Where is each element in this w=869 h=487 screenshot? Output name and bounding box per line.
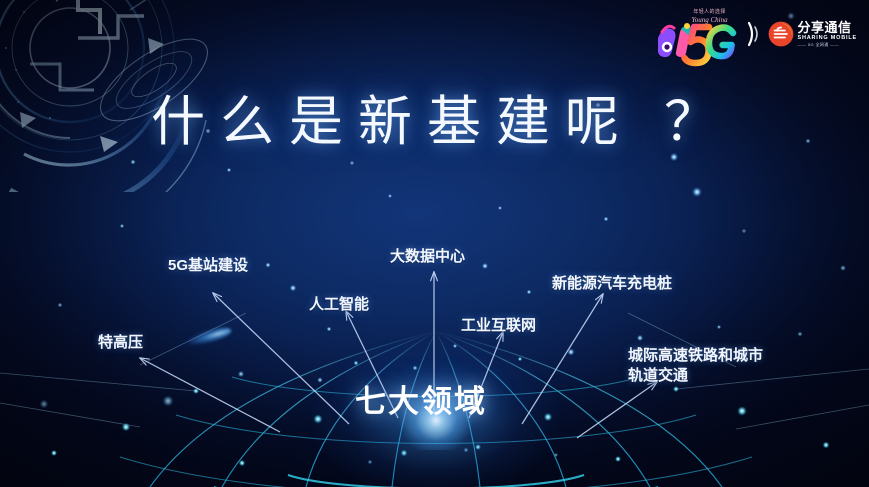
page-title: 什么是新基建呢 ？ [0, 95, 869, 149]
sharing-mobile-sub: —— 5G 全网通 —— [798, 43, 857, 47]
presentation-slide: 什么是新基建呢 ？ 特高压 5G基站建设 人工智能 大数据中心 工业互联网 新能… [0, 0, 869, 487]
sharing-mobile-icon [768, 21, 794, 47]
diagram-label-intercity-rail-line2: 轨道交通 [628, 366, 763, 386]
diagram-label-ultra-high-voltage[interactable]: 特高压 [98, 333, 143, 353]
diagram-label-5g-base-station[interactable]: 5G基站建设 [168, 256, 248, 276]
sharing-mobile-wordmark: 分享通信 SHARING MOBILE —— 5G 全网通 —— [798, 21, 857, 48]
5g-logo: 年轻人的选择 Young China [656, 10, 738, 58]
logo-bar: 年轻人的选择 Young China [656, 10, 857, 58]
diagram-label-intercity-rail-line1: 城际高速铁路和城市 [628, 346, 763, 366]
signal-wave-icon [746, 17, 760, 51]
sharing-mobile-logo: 分享通信 SHARING MOBILE —— 5G 全网通 —— [768, 21, 857, 48]
diagram-label-industrial-internet[interactable]: 工业互联网 [461, 316, 536, 336]
diagram-label-intercity-rail[interactable]: 城际高速铁路和城市 轨道交通 [628, 346, 763, 386]
sharing-mobile-name-cn: 分享通信 [798, 21, 857, 34]
center-label: 七大领域 [355, 376, 487, 421]
diagram-label-big-data-center[interactable]: 大数据中心 [390, 247, 465, 267]
diagram-label-ev-charging[interactable]: 新能源汽车充电桩 [552, 274, 672, 294]
sharing-mobile-name-en: SHARING MOBILE [798, 36, 857, 42]
5g-logo-mark [656, 20, 738, 68]
diagram-label-ai[interactable]: 人工智能 [309, 295, 369, 315]
